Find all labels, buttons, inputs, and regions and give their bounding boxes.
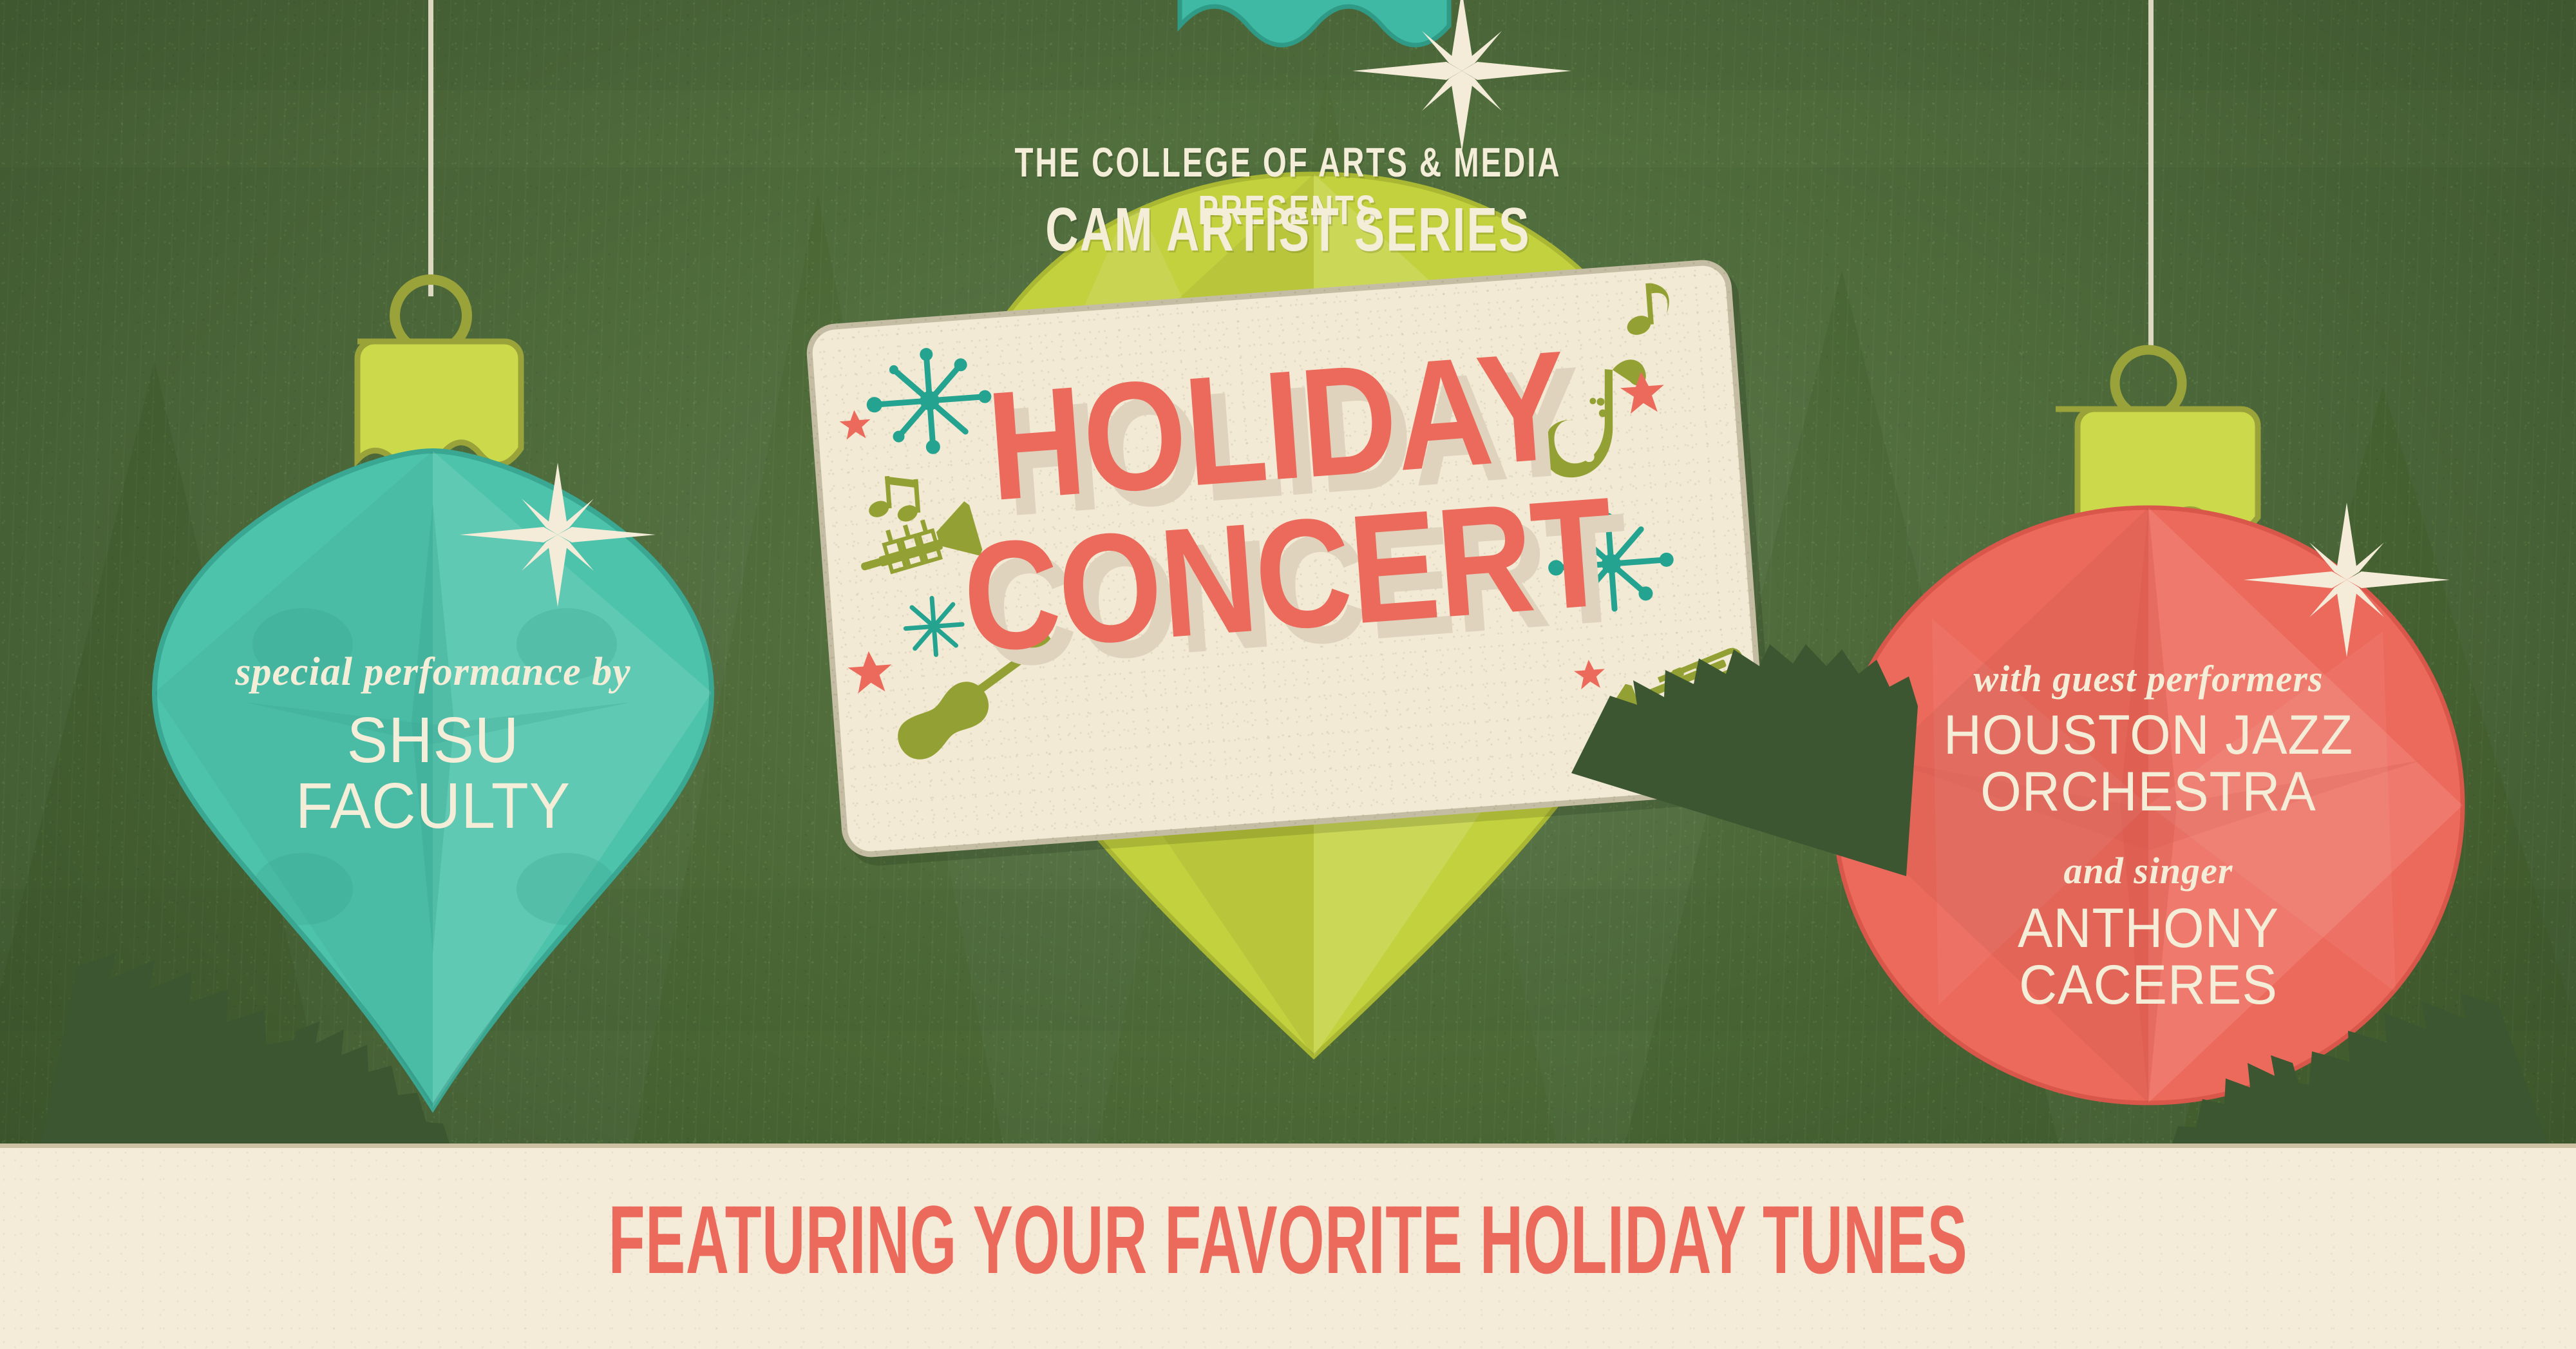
holiday-concert-poster: THE COLLEGE OF ARTS & MEDIA PRESENTS CAM…: [0, 0, 2576, 1349]
bottom-banner: FEATURING YOUR FAVORITE HOLIDAY TUNES: [0, 1143, 2576, 1349]
pine-branch-center: [1571, 644, 1918, 876]
banner-text: FEATURING YOUR FAVORITE HOLIDAY TUNES: [489, 1184, 2087, 1296]
